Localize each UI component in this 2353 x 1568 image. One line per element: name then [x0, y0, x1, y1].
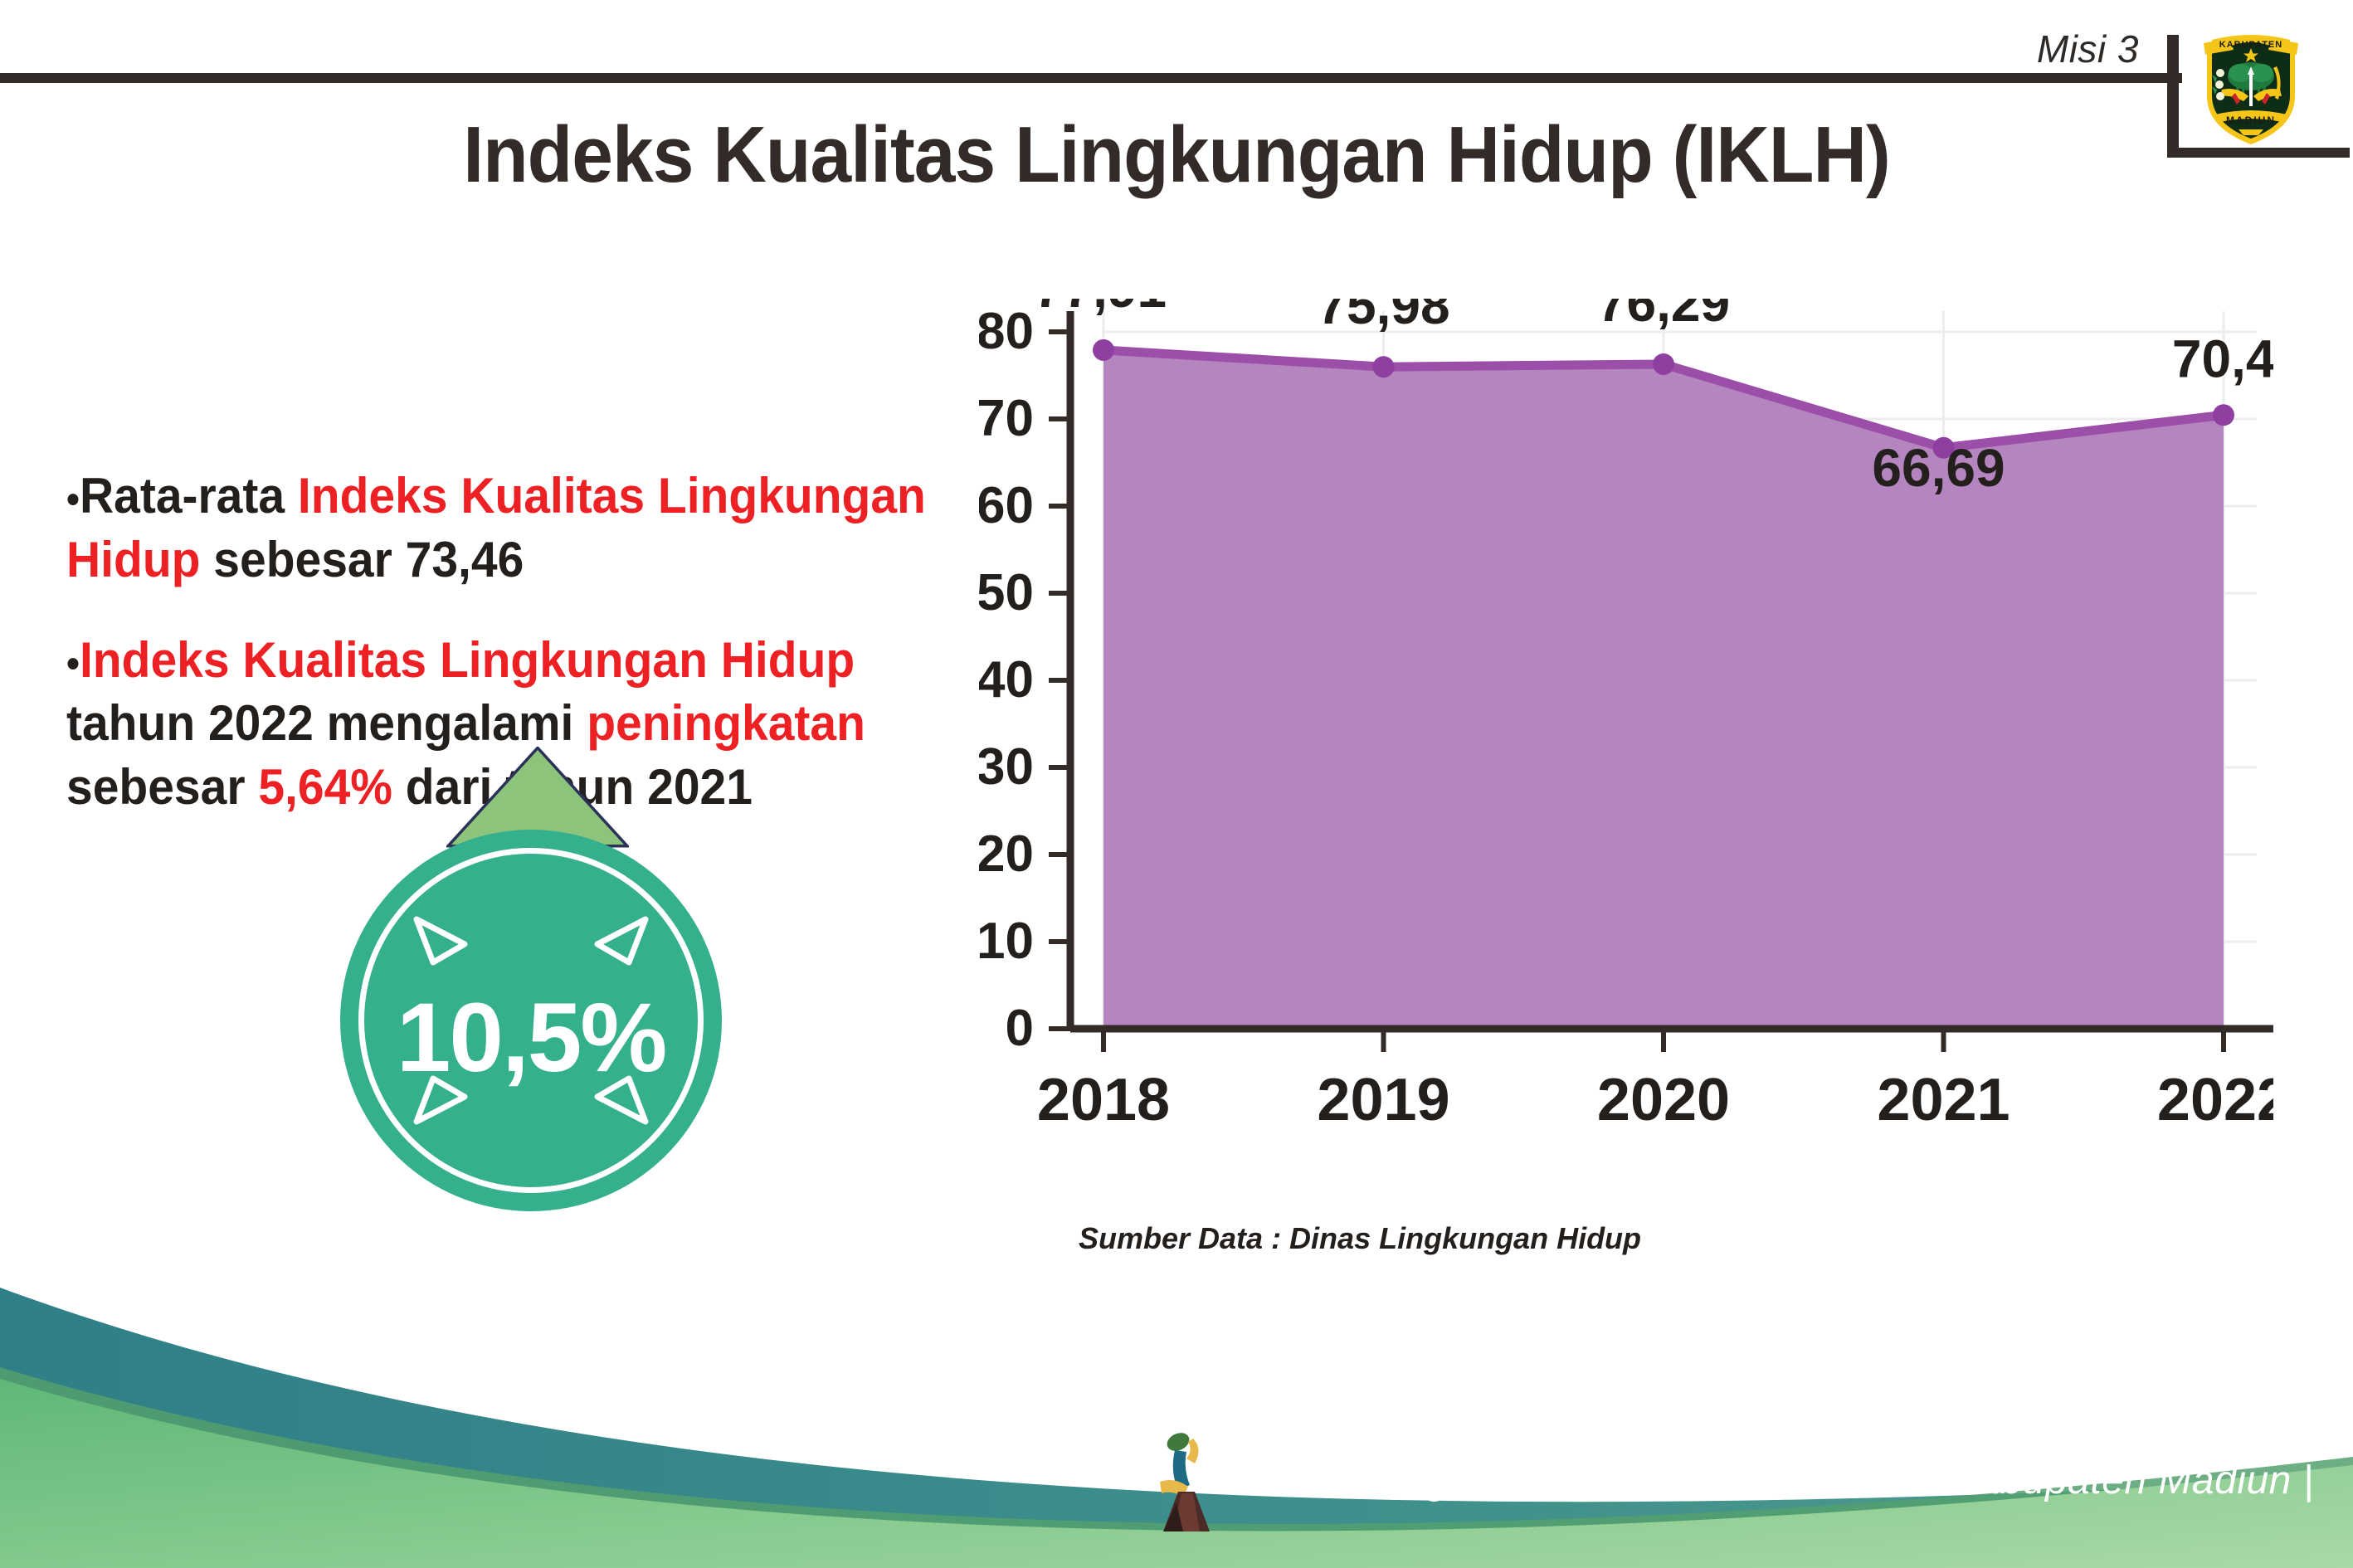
- y-tick-label: 70: [979, 390, 1034, 447]
- x-tick-label: 2018: [1037, 1067, 1170, 1133]
- bullet-highlight: peningkatan: [587, 695, 865, 751]
- y-tick-label: 20: [979, 825, 1034, 883]
- x-tick-label: 2021: [1877, 1067, 2010, 1133]
- header-rule: [0, 73, 2182, 83]
- chart-area-series: [1093, 339, 2234, 1029]
- data-point-label: 76,29: [1597, 299, 1730, 333]
- y-tick-label: 60: [979, 477, 1034, 534]
- y-tick-label: 10: [979, 913, 1034, 970]
- iklh-area-chart: 01020304050607080 20182019202020212022 7…: [979, 299, 2273, 1178]
- bullet-text: sebesar: [66, 759, 258, 815]
- media-infografis-logo-icon: [1145, 1427, 1236, 1535]
- y-tick-label: 0: [1006, 1000, 1034, 1057]
- x-tick-label: 2020: [1597, 1067, 1730, 1133]
- increase-badge: 10,5%: [324, 747, 755, 1211]
- infographic-slide: Misi 3 KABUPATEN MADIUN Indeks Kualitas …: [0, 0, 2353, 1568]
- data-point-marker: [2213, 404, 2234, 426]
- chart-x-tick-labels: 20182019202020212022: [1037, 1067, 2273, 1133]
- bullet-marker: •: [66, 642, 80, 686]
- mission-label: Misi 3: [2037, 27, 2139, 71]
- data-point-label: 70,45: [2172, 329, 2273, 388]
- y-tick-label: 50: [979, 564, 1034, 621]
- bullet-highlight: Indeks Kualitas Lingkungan Hidup: [80, 632, 855, 688]
- chart-y-tick-labels: 01020304050607080: [979, 303, 1034, 1057]
- data-point-label: 77,91: [1034, 299, 1167, 319]
- footer-caption: Media Infografis Data Statistik Sektoral…: [1236, 1458, 2314, 1503]
- page-title: Indeks Kualitas Lingkungan Hidup (IKLH): [82, 110, 2270, 201]
- data-point-label: 75,98: [1317, 299, 1449, 335]
- source-note: Sumber Data : Dinas Lingkungan Hidup: [1079, 1221, 1641, 1256]
- x-tick-label: 2022: [2157, 1067, 2273, 1133]
- bullet-marker: •: [66, 478, 80, 522]
- bullet-text: tahun 2022 mengalami: [66, 695, 587, 751]
- list-item: •Rata-rata Indeks Kualitas Lingkungan Hi…: [66, 465, 933, 592]
- x-tick-label: 2019: [1317, 1067, 1449, 1133]
- data-point-label: 66,69: [1872, 438, 2005, 498]
- data-point-marker: [1093, 339, 1114, 361]
- badge-value: 10,5%: [340, 830, 722, 1211]
- bullet-text: sebesar 73,46: [200, 532, 524, 587]
- y-tick-label: 80: [979, 303, 1034, 360]
- y-tick-label: 40: [979, 651, 1034, 709]
- bullet-text: Rata-rata: [80, 468, 298, 523]
- y-tick-label: 30: [979, 738, 1034, 796]
- data-point-marker: [1653, 353, 1674, 375]
- area-fill: [1103, 350, 2224, 1029]
- data-point-marker: [1373, 356, 1395, 377]
